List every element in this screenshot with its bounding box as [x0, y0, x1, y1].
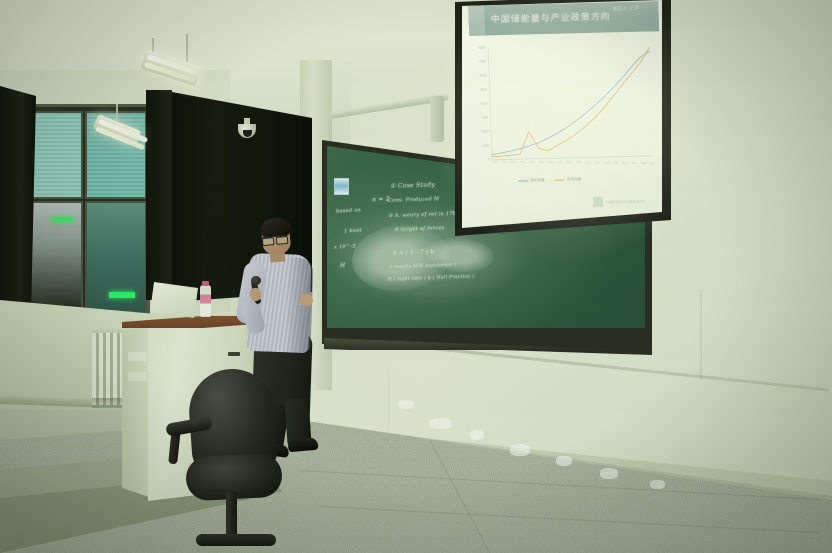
wall-scuff [600, 468, 618, 479]
wall-scuff [650, 480, 665, 489]
exterior-green-light [51, 217, 73, 222]
wall-scuff [430, 418, 452, 429]
lecture-hall-photo: n = 2based on1 bootx 10^-3H① Case StudyC… [0, 0, 832, 553]
chart-legend: 装机容量新增容量 [518, 177, 581, 184]
presenter-glasses [262, 235, 289, 244]
legend-label: 新增容量 [567, 177, 582, 182]
wall-scuff [556, 456, 572, 466]
office-chair-gas-cylinder [226, 492, 237, 540]
chart-x-tick: 2000 [492, 160, 498, 163]
lectern-panel [128, 352, 146, 361]
logo-mark-icon [593, 197, 603, 207]
chart-x-tick: 2011 [594, 162, 600, 165]
exterior-green-sign [109, 292, 135, 298]
lectern-side [122, 322, 152, 498]
blackboard-notice-card [334, 178, 349, 195]
chart-x-tick: 2009 [576, 161, 582, 164]
legend-swatch-icon [518, 180, 528, 182]
presenter-shoe-front [287, 437, 318, 453]
chart-series-line [488, 47, 654, 157]
wall-scuff [470, 430, 484, 440]
chalkboard-note: 1 boot [344, 228, 362, 235]
light-suspension-rod [186, 34, 188, 62]
lectern-monitor [150, 282, 198, 318]
microphone-head-icon [251, 276, 261, 285]
slide-subtitle: 报告人 王洋 [612, 5, 639, 13]
chalkboard-note: H [340, 262, 346, 269]
chart-x-tick: 2004 [529, 161, 535, 164]
wall-crack [700, 290, 702, 380]
chart-x-tick: 2002 [510, 161, 516, 164]
slide-logo: 中国能源研究会储能专委会 [593, 196, 646, 207]
chart-x-tick: 2012 [603, 162, 609, 165]
wall-conduit [430, 96, 444, 142]
slide-content: 中国储能量与产业政策方向 报告人 王洋 80007000600050004000… [462, 0, 662, 228]
slide-logo-text: 中国能源研究会储能专委会 [605, 198, 646, 204]
wall-crack [388, 372, 389, 428]
chart-x-tick: 2017 [650, 162, 656, 165]
chart-x-tick: 2016 [641, 162, 647, 165]
wall-scuff [398, 400, 414, 409]
chalkboard-note: x 10^-3 [334, 243, 356, 250]
chart-plot-area [469, 35, 662, 170]
chart-legend-item: 新增容量 [555, 177, 582, 183]
projection-screen: 中国储能量与产业政策方向 报告人 王洋 80007000600050004000… [462, 0, 662, 228]
legend-swatch-icon [555, 179, 565, 181]
slide-header-accent [468, 1, 485, 35]
legend-label: 装机容量 [530, 178, 545, 183]
chart-legend-item: 装机容量 [518, 178, 545, 184]
lectern-handle[interactable] [228, 352, 240, 356]
wall-scuff [510, 444, 530, 456]
chart-x-tick: 2015 [631, 162, 637, 165]
chart-series-line [488, 51, 653, 155]
chart-x-tick: 2013 [613, 162, 619, 165]
chart-x-tick: 2003 [520, 161, 526, 164]
chart-x-tick: 2010 [585, 161, 591, 164]
chart-x-tick: 2008 [566, 161, 572, 164]
water-bottle [200, 285, 211, 317]
slide-chart: 800070006000500040003000200010000 200020… [469, 35, 662, 220]
chart-x-tick: 2006 [548, 161, 554, 164]
lectern-panel [128, 372, 146, 381]
chart-x-tick: 2014 [622, 162, 628, 165]
blackout-curtain-middle [146, 90, 172, 300]
water-bottle-cap [202, 281, 209, 286]
chart-x-tick: 2007 [557, 161, 563, 164]
chart-x-tick: 2001 [501, 161, 507, 164]
office-chair-base [196, 534, 276, 546]
chart-x-tick: 2005 [538, 161, 544, 164]
